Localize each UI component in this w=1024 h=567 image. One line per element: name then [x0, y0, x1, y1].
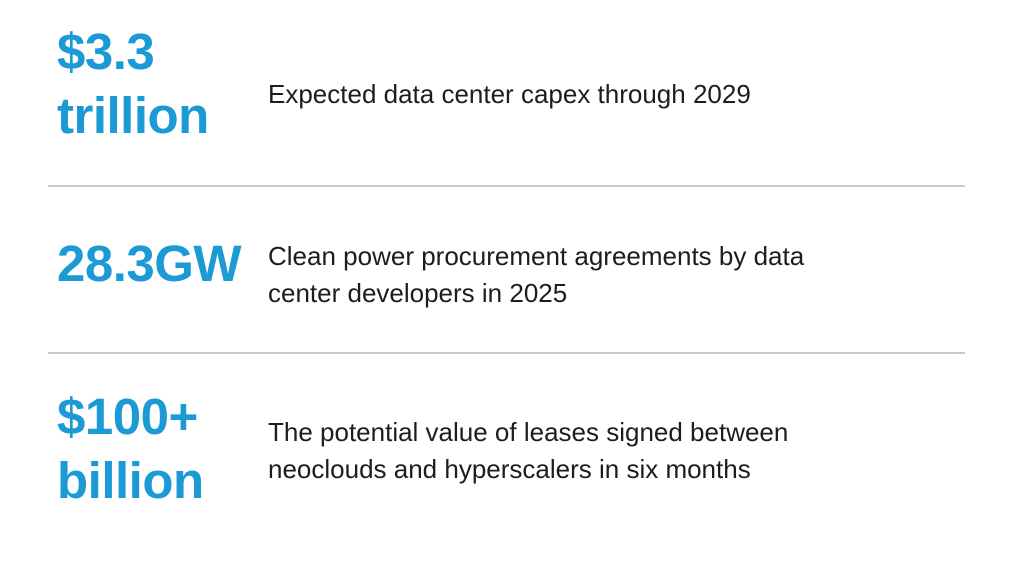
stat-row: $100+ billion The potential value of lea…: [0, 353, 1024, 567]
stat-value-2: 28.3GW: [0, 186, 268, 296]
stat-description-3: The potential value of leases signed bet…: [268, 353, 908, 488]
statistics-panel: $3.3 trillion Expected data center capex…: [0, 0, 1024, 567]
stat-description-1: Expected data center capex through 2029: [268, 0, 908, 113]
stat-description-2: Clean power procurement agreements by da…: [268, 186, 908, 312]
stat-value-3: $100+ billion: [0, 353, 268, 514]
stat-row: 28.3GW Clean power procurement agreement…: [0, 186, 1024, 353]
stat-value-1: $3.3 trillion: [0, 0, 268, 149]
stat-row: $3.3 trillion Expected data center capex…: [0, 0, 1024, 186]
